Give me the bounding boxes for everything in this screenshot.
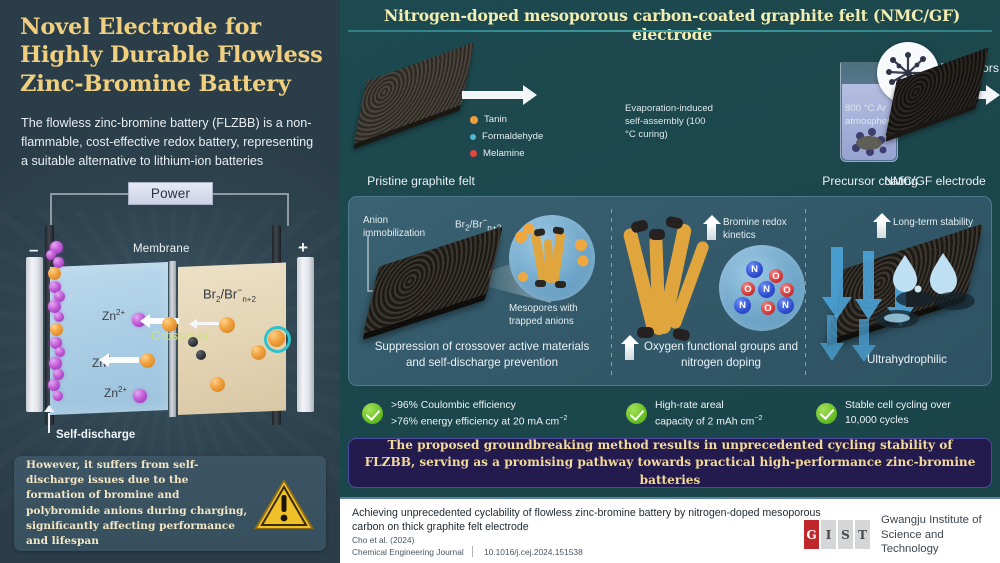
heteroatom-zoom-circle: N O O N O N O N (719, 245, 805, 331)
warning-text: However, it suffers from self-discharge … (26, 458, 248, 548)
legend-label: Formaldehyde (482, 131, 543, 142)
synthesis-flow: Pristine graphite felt Tanin Formaldehyd… (340, 36, 1000, 194)
mesopore-zoom-circle (509, 215, 595, 301)
gist-letter-t: T (855, 520, 870, 549)
zinc-label: Zn2+ (102, 308, 125, 323)
bromine-ion-crossing (140, 353, 155, 368)
flow-arrow-1 (462, 91, 524, 99)
warning-callout: However, it suffers from self-discharge … (14, 456, 326, 551)
self-discharge-leader (48, 413, 50, 433)
result-superscript: −2 (559, 413, 567, 422)
result-line-1: High-rate areal (655, 400, 724, 411)
paper-authors: Cho et al. (2024) (352, 535, 414, 545)
result-text: Stable cell cycling over 10,000 cycles (845, 398, 951, 428)
mechanism-panel: Anion immobilization Br2/Br−n+2 (348, 196, 992, 386)
up-arrow-oxygen-groups (625, 343, 634, 360)
atom-n: N (758, 281, 775, 298)
polybromide-particle (188, 337, 198, 347)
paper-title: Achieving unprecedented cyclability of f… (352, 506, 822, 535)
wire-right-horizontal (213, 193, 289, 195)
zinc-ion (49, 357, 62, 370)
positive-terminal-sign: + (298, 238, 308, 258)
mechanism-caption-1: Suppression of crossover active material… (371, 339, 593, 370)
footer: Achieving unprecedented cyclability of f… (340, 497, 1000, 563)
gist-logo-mark: G I S T (804, 520, 872, 549)
result-text: >96% Coulombic efficiency >76% energy ef… (391, 398, 567, 430)
conclusion-text: The proposed groundbreaking method resul… (349, 437, 991, 489)
legend-dot-melamine (470, 150, 477, 157)
flow-step-caption: Pristine graphite felt (346, 174, 496, 188)
atom-o: O (741, 282, 755, 296)
left-panel: Novel Electrode for Highly Durable Flowl… (0, 0, 340, 563)
current-collector-left (26, 257, 43, 412)
legend-dot-formaldehyde (470, 134, 476, 140)
legend-formaldehyde: Formaldehyde (470, 131, 543, 142)
pristine-felt-block (360, 64, 468, 122)
zinc-ion (55, 347, 65, 357)
conclusion-banner: The proposed groundbreaking method resul… (348, 438, 992, 488)
mechanism-divider-2 (805, 209, 806, 375)
evaporation-note: Evaporation-induced self-assembly (100 °… (625, 102, 715, 142)
nmc-gf-electrode-block (891, 66, 983, 118)
bromine-kinetics-label: Bromine redox kinetics (723, 217, 805, 243)
power-label-box: Power (128, 182, 213, 205)
mechanism-caption-2: Oxygen functional groups and nitrogen do… (637, 339, 805, 370)
atom-o: O (769, 269, 783, 283)
result-superscript: −2 (754, 413, 762, 422)
result-line-2: >76% energy efficiency at 20 mA cm (391, 417, 559, 428)
gist-letter-s: S (838, 520, 853, 549)
carbon-fiber-illustration (621, 209, 731, 349)
atom-n: N (777, 297, 794, 314)
header-divider (348, 30, 992, 32)
flow-step-caption: NMC/GF electrode (865, 174, 1000, 188)
battery-cell-diagram: – + Membrane Br2/Br−n+2 (20, 205, 320, 440)
result-text: High-rate areal capacity of 2 mAh cm−2 (655, 398, 763, 430)
gist-name-line-1: Gwangju Institute of (881, 513, 1000, 528)
gist-logo-name: Gwangju Institute of Science and Technol… (881, 513, 1000, 557)
water-droplets-and-arrows (819, 233, 989, 363)
check-icon (626, 403, 647, 424)
bromine-species-label: Br2/Br−n+2 (203, 285, 256, 304)
bromine-ion (50, 323, 63, 336)
migration-arrow-lower (108, 357, 139, 363)
check-icon (362, 403, 383, 424)
wire-left-horizontal (50, 193, 128, 195)
mesopore-zoom-label: Mesopores with trapped anions (509, 303, 601, 329)
legend-dot-tanin (470, 116, 478, 124)
gist-letter-g: G (804, 520, 819, 549)
result-item-3: Stable cell cycling over 10,000 cycles (816, 398, 996, 428)
page-title: Novel Electrode for Highly Durable Flowl… (20, 13, 325, 98)
check-icon (816, 403, 837, 424)
infographic-root: Novel Electrode for Highly Durable Flowl… (0, 0, 1000, 563)
gist-name-line-2: Science and Technology (881, 528, 1000, 557)
zinc-label: Zn2+ (104, 385, 127, 400)
right-panel: Nitrogen-doped mesoporous carbon-coated … (340, 0, 1000, 497)
atom-o: O (780, 283, 794, 297)
legend-label: Melamine (483, 148, 525, 159)
self-discharge-arrow (44, 405, 54, 412)
mechanism-divider-1 (611, 209, 612, 375)
legend-tanin: Tanin (470, 114, 507, 125)
lead-paragraph: The flowless zinc-bromine battery (FLZBB… (21, 114, 321, 171)
zinc-ion (133, 389, 147, 403)
result-item-2: High-rate areal capacity of 2 mAh cm−2 (626, 398, 806, 430)
current-collector-right (297, 257, 314, 412)
bromine-ion (251, 345, 266, 360)
legend-melamine: Melamine (470, 148, 525, 159)
polybromide-particle (196, 350, 206, 360)
results-row: >96% Coulombic efficiency >76% energy ef… (348, 392, 992, 434)
warning-triangle-icon (252, 476, 316, 532)
self-discharge-label: Self-discharge (56, 429, 135, 441)
bromine-ion (48, 267, 61, 280)
bromine-ion (219, 317, 235, 333)
zinc-ion (53, 391, 63, 401)
zinc-ion (54, 312, 64, 322)
gist-letter-i: I (821, 520, 836, 549)
atom-o: O (761, 301, 775, 315)
mechanism-caption-3: Ultrahydrophilic (827, 352, 987, 368)
footer-divider (472, 546, 473, 557)
membrane-label: Membrane (133, 243, 190, 255)
atom-n: N (746, 261, 763, 278)
zinc-ion (48, 379, 60, 391)
bromine-ion (210, 377, 225, 392)
result-line-2: capacity of 2 mAh cm (655, 417, 754, 428)
paper-doi[interactable]: 10.1016/j.cej.2024.151538 (484, 547, 583, 557)
atom-n: N (734, 297, 751, 314)
journal-name: Chemical Engineering Journal (352, 547, 464, 557)
crossover-label: Crossover (151, 329, 210, 343)
result-item-1: >96% Coulombic efficiency >76% energy ef… (362, 398, 592, 430)
result-line-2: 10,000 cycles (845, 415, 909, 426)
gist-logo: G I S T Gwangju Institute of Science and… (804, 513, 1000, 557)
highlight-ring (264, 326, 291, 353)
result-line-1: Stable cell cycling over (845, 400, 951, 411)
result-line-1: >96% Coulombic efficiency (391, 400, 516, 411)
legend-label: Tanin (484, 114, 507, 125)
